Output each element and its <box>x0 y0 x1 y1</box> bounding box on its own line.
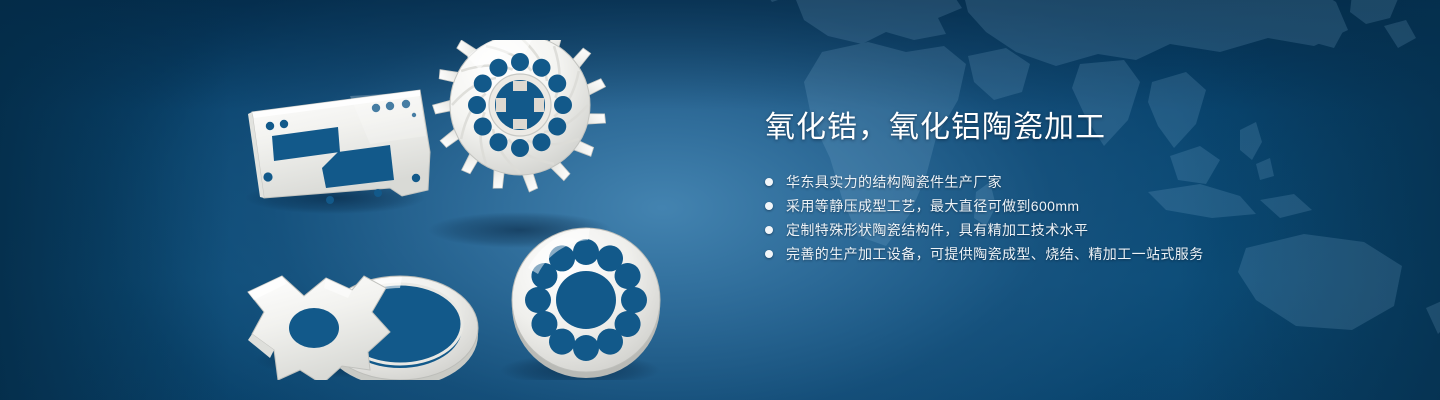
bullet-dot-icon <box>765 178 773 186</box>
feature-text: 采用等静压成型工艺，最大直径可做到600mm <box>786 194 1079 218</box>
banner-headline: 氧化锆，氧化铝陶瓷加工 <box>765 108 1385 148</box>
banner-copy: 氧化锆，氧化铝陶瓷加工 华东具实力的结构陶瓷件生产厂家 采用等静压成型工艺，最大… <box>765 108 1385 266</box>
bullet-dot-icon <box>765 202 773 210</box>
ceramic-machined-plate <box>248 90 430 204</box>
list-item: 定制特殊形状陶瓷结构件，具有精加工技术水平 <box>765 218 1385 242</box>
feature-text: 定制特殊形状陶瓷结构件，具有精加工技术水平 <box>786 218 1088 242</box>
ceramic-perforated-disc <box>512 228 660 378</box>
ceramic-impeller-wheel <box>432 40 607 193</box>
feature-list: 华东具实力的结构陶瓷件生产厂家 采用等静压成型工艺，最大直径可做到600mm 定… <box>765 170 1385 266</box>
feature-text: 华东具实力的结构陶瓷件生产厂家 <box>786 170 1002 194</box>
feature-text: 完善的生产加工设备，可提供陶瓷成型、烧结、精加工一站式服务 <box>786 242 1204 266</box>
ceramic-products-group <box>230 40 720 380</box>
list-item: 华东具实力的结构陶瓷件生产厂家 <box>765 170 1385 194</box>
background-left-shade <box>0 0 230 400</box>
list-item: 采用等静压成型工艺，最大直径可做到600mm <box>765 194 1385 218</box>
bullet-dot-icon <box>765 226 773 234</box>
list-item: 完善的生产加工设备，可提供陶瓷成型、烧结、精加工一站式服务 <box>765 242 1385 266</box>
bullet-dot-icon <box>765 250 773 258</box>
promo-banner: 氧化锆，氧化铝陶瓷加工 华东具实力的结构陶瓷件生产厂家 采用等静压成型工艺，最大… <box>0 0 1440 400</box>
